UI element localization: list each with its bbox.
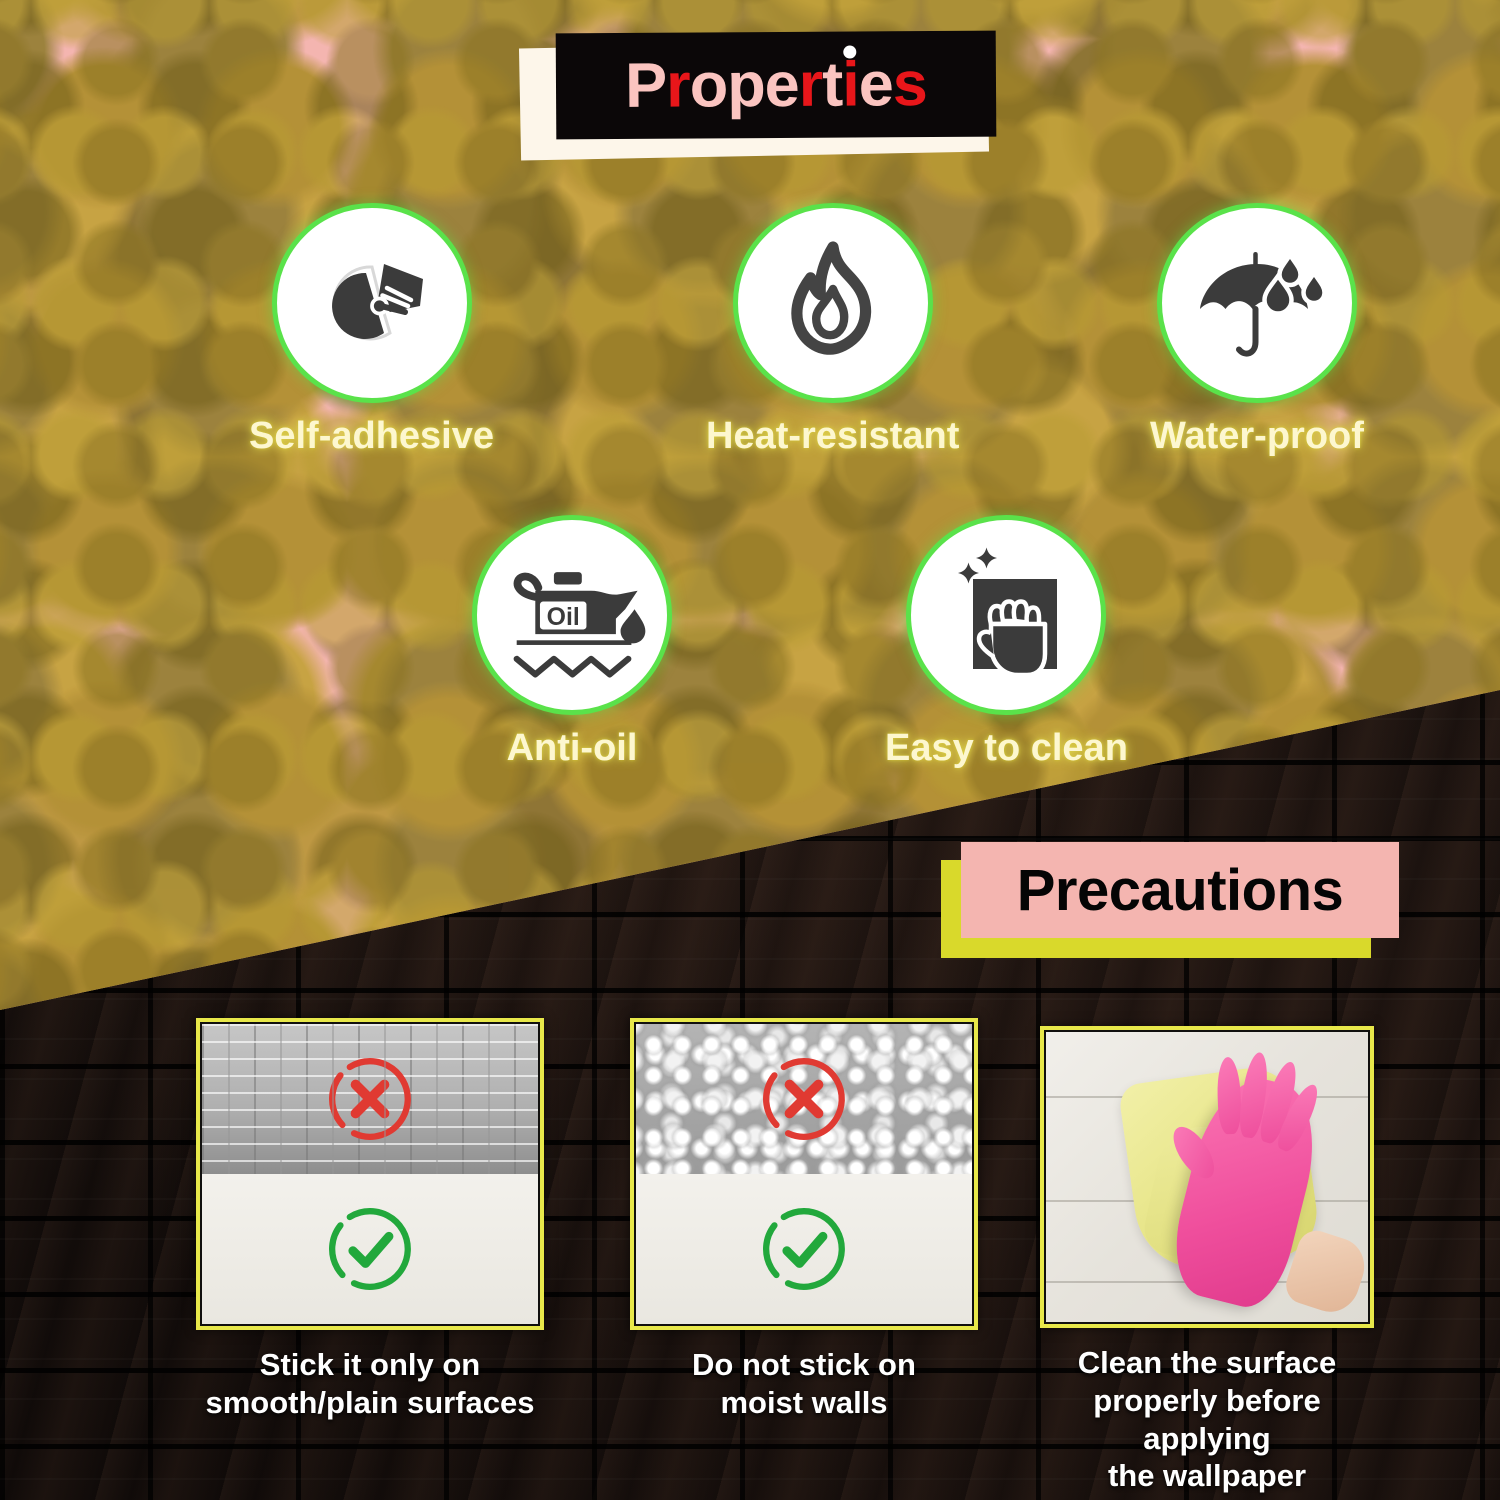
property-label: Anti-oil (472, 727, 672, 770)
hand-wiping-cloth-icon (931, 540, 1081, 690)
peel-sticker-hand-icon (297, 228, 447, 378)
property-item-easy-to-clean: Easy to clean (885, 515, 1128, 770)
title-letter: t (822, 49, 842, 119)
moist-wall-surface (636, 1024, 972, 1174)
properties-banner: Properties (536, 32, 1004, 150)
property-icon-circle: Oil (472, 515, 672, 715)
caption-line: Stick it only on (196, 1346, 544, 1384)
green-check-icon (325, 1204, 415, 1294)
title-letter: P (625, 50, 666, 120)
red-cross-icon (325, 1054, 415, 1144)
property-icon-circle (1157, 203, 1357, 403)
title-letter: r (799, 49, 823, 119)
card-frame (630, 1018, 978, 1330)
caption-line: smooth/plain surfaces (196, 1384, 544, 1422)
property-label: Self-adhesive (249, 415, 494, 458)
green-check-icon (759, 1204, 849, 1294)
property-label: Easy to clean (885, 727, 1128, 770)
precaution-card-smooth-surface: Stick it only on smooth/plain surfaces (196, 1018, 544, 1422)
property-item-heat-resistant: Heat-resistant (706, 203, 959, 458)
caption-line: the wallpaper (1040, 1457, 1374, 1495)
title-letter: i (842, 49, 859, 119)
precautions-banner-box: Precautions (961, 842, 1399, 938)
title-letter: s (893, 49, 927, 119)
property-label: Heat-resistant (706, 415, 959, 458)
i-dot (844, 45, 857, 58)
rough-brick-surface (202, 1024, 538, 1174)
smooth-plain-surface (202, 1174, 538, 1324)
caption-line: moist walls (630, 1384, 978, 1422)
property-icon-circle (906, 515, 1106, 715)
title-letter: r (666, 50, 690, 120)
umbrella-raindrops-icon (1182, 228, 1332, 378)
card-caption: Do not stick on moist walls (630, 1346, 978, 1422)
title-letter: o (689, 50, 727, 120)
title-letter: e (764, 49, 798, 119)
property-icon-circle (733, 203, 933, 403)
caption-line: Do not stick on (630, 1346, 978, 1384)
precautions-title: Precautions (1017, 857, 1344, 924)
precaution-card-clean-surface: Clean the surface properly before applyi… (1040, 1026, 1374, 1495)
precaution-card-moist-wall: Do not stick on moist walls (630, 1018, 978, 1422)
infographic-page: Properties Self-adhesive Heat-r (0, 0, 1500, 1500)
title-letter: p (727, 50, 765, 120)
card-caption: Clean the surface properly before applyi… (1040, 1344, 1374, 1495)
properties-title: Properties (625, 53, 927, 118)
card-frame (196, 1018, 544, 1330)
flame-icon (763, 233, 903, 373)
caption-line: Clean the surface (1040, 1344, 1374, 1382)
gloved-hand-wiping-photo (1046, 1032, 1368, 1322)
property-item-self-adhesive: Self-adhesive (249, 203, 494, 458)
properties-banner-box: Properties (556, 31, 997, 140)
title-letter: e (859, 49, 893, 119)
oil-can-icon: Oil (495, 538, 650, 693)
property-label: Water-proof (1150, 415, 1364, 458)
oil-can-label: Oil (546, 603, 579, 630)
property-item-anti-oil: Oil Anti-oil (472, 515, 672, 770)
dry-plain-surface (636, 1174, 972, 1324)
property-icon-circle (272, 203, 472, 403)
red-cross-icon (759, 1054, 849, 1144)
precautions-banner: Precautions (941, 842, 1399, 958)
property-item-water-proof: Water-proof (1150, 203, 1364, 458)
caption-line: properly before applying (1040, 1382, 1374, 1458)
card-caption: Stick it only on smooth/plain surfaces (196, 1346, 544, 1422)
card-frame (1040, 1026, 1374, 1328)
title-letter-i: i (842, 49, 859, 119)
